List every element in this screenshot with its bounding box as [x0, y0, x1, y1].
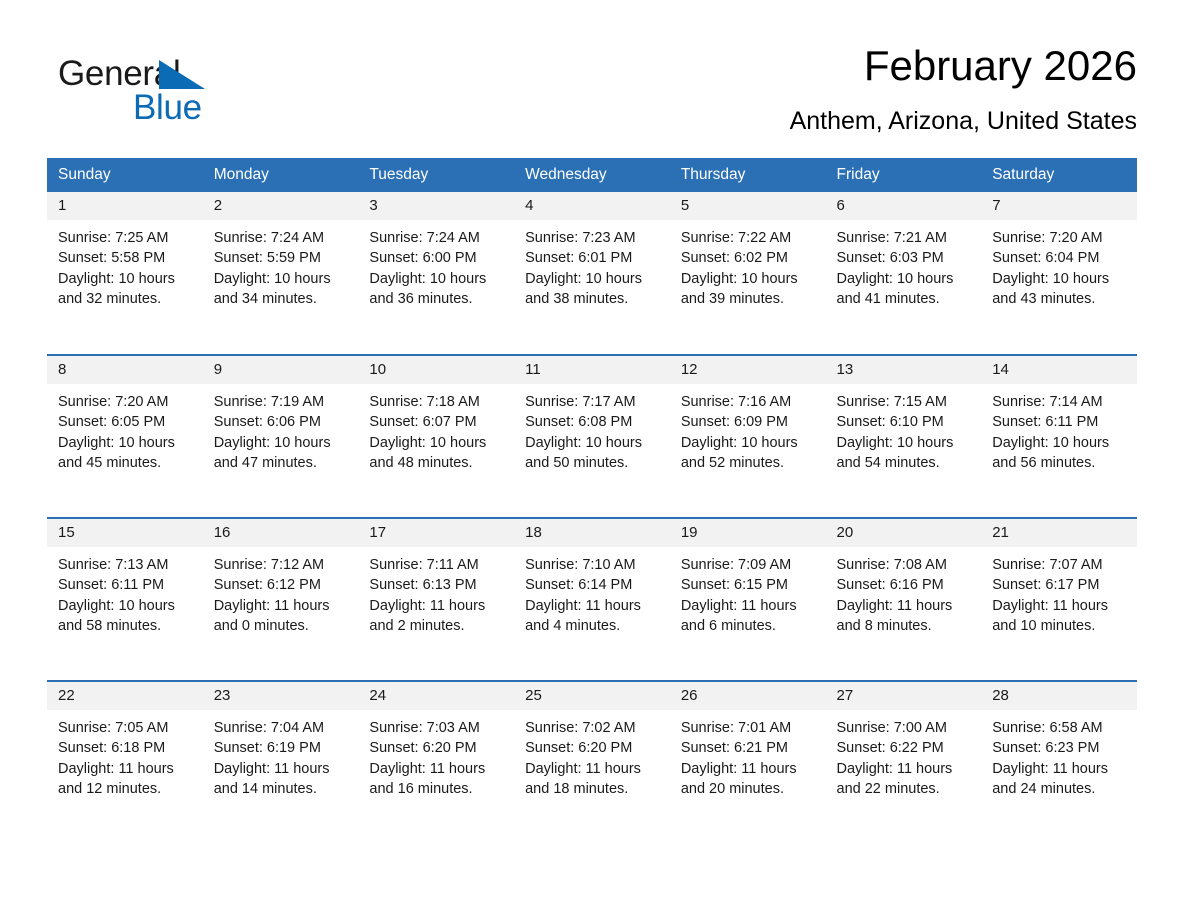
day-details: Sunrise: 7:00 AM Sunset: 6:22 PM Dayligh… [826, 710, 982, 799]
daylight-text-line2: and 16 minutes. [369, 779, 504, 799]
day-number: 2 [203, 192, 359, 220]
day-details: Sunrise: 7:13 AM Sunset: 6:11 PM Dayligh… [47, 547, 203, 636]
day-cell[interactable]: 9 Sunrise: 7:19 AM Sunset: 6:06 PM Dayli… [203, 355, 359, 518]
weekday-header-sunday: Sunday [47, 158, 203, 192]
daylight-text-line1: Daylight: 11 hours [369, 759, 504, 779]
weekday-header-saturday: Saturday [981, 158, 1137, 192]
daylight-text-line1: Daylight: 10 hours [369, 269, 504, 289]
sunrise-text: Sunrise: 7:20 AM [992, 228, 1127, 248]
day-cell[interactable]: 21 Sunrise: 7:07 AM Sunset: 6:17 PM Dayl… [981, 518, 1137, 681]
sunrise-text: Sunrise: 7:00 AM [837, 718, 972, 738]
day-number: 28 [981, 682, 1137, 710]
sunset-text: Sunset: 6:19 PM [214, 738, 349, 758]
day-cell[interactable]: 1 Sunrise: 7:25 AM Sunset: 5:58 PM Dayli… [47, 192, 203, 355]
sunset-text: Sunset: 6:03 PM [837, 248, 972, 268]
day-number: 11 [514, 356, 670, 384]
day-details: Sunrise: 7:11 AM Sunset: 6:13 PM Dayligh… [358, 547, 514, 636]
daylight-text-line1: Daylight: 10 hours [681, 269, 816, 289]
sunrise-text: Sunrise: 7:10 AM [525, 555, 660, 575]
daylight-text-line1: Daylight: 10 hours [525, 269, 660, 289]
day-number: 6 [826, 192, 982, 220]
day-number: 26 [670, 682, 826, 710]
day-number: 14 [981, 356, 1137, 384]
sunrise-text: Sunrise: 7:20 AM [58, 392, 193, 412]
sunset-text: Sunset: 6:13 PM [369, 575, 504, 595]
sunrise-text: Sunrise: 7:14 AM [992, 392, 1127, 412]
daylight-text-line1: Daylight: 10 hours [837, 433, 972, 453]
day-cell[interactable]: 4 Sunrise: 7:23 AM Sunset: 6:01 PM Dayli… [514, 192, 670, 355]
day-cell[interactable]: 2 Sunrise: 7:24 AM Sunset: 5:59 PM Dayli… [203, 192, 359, 355]
day-number: 18 [514, 519, 670, 547]
daylight-text-line2: and 18 minutes. [525, 779, 660, 799]
daylight-text-line1: Daylight: 10 hours [837, 269, 972, 289]
day-details: Sunrise: 7:18 AM Sunset: 6:07 PM Dayligh… [358, 384, 514, 473]
sunset-text: Sunset: 6:02 PM [681, 248, 816, 268]
day-cell[interactable]: 3 Sunrise: 7:24 AM Sunset: 6:00 PM Dayli… [358, 192, 514, 355]
daylight-text-line2: and 56 minutes. [992, 453, 1127, 473]
daylight-text-line1: Daylight: 10 hours [58, 269, 193, 289]
day-details: Sunrise: 7:05 AM Sunset: 6:18 PM Dayligh… [47, 710, 203, 799]
day-number: 9 [203, 356, 359, 384]
day-details: Sunrise: 7:02 AM Sunset: 6:20 PM Dayligh… [514, 710, 670, 799]
daylight-text-line2: and 47 minutes. [214, 453, 349, 473]
day-cell[interactable]: 16 Sunrise: 7:12 AM Sunset: 6:12 PM Dayl… [203, 518, 359, 681]
daylight-text-line2: and 14 minutes. [214, 779, 349, 799]
day-details: Sunrise: 7:09 AM Sunset: 6:15 PM Dayligh… [670, 547, 826, 636]
sunset-text: Sunset: 6:20 PM [369, 738, 504, 758]
day-cell[interactable]: 14 Sunrise: 7:14 AM Sunset: 6:11 PM Dayl… [981, 355, 1137, 518]
day-details: Sunrise: 7:19 AM Sunset: 6:06 PM Dayligh… [203, 384, 359, 473]
daylight-text-line1: Daylight: 11 hours [992, 596, 1127, 616]
day-cell[interactable]: 19 Sunrise: 7:09 AM Sunset: 6:15 PM Dayl… [670, 518, 826, 681]
day-cell[interactable]: 8 Sunrise: 7:20 AM Sunset: 6:05 PM Dayli… [47, 355, 203, 518]
day-cell[interactable]: 20 Sunrise: 7:08 AM Sunset: 6:16 PM Dayl… [826, 518, 982, 681]
daylight-text-line2: and 48 minutes. [369, 453, 504, 473]
day-cell[interactable]: 25 Sunrise: 7:02 AM Sunset: 6:20 PM Dayl… [514, 681, 670, 844]
sunset-text: Sunset: 6:04 PM [992, 248, 1127, 268]
daylight-text-line1: Daylight: 11 hours [837, 596, 972, 616]
day-details: Sunrise: 7:10 AM Sunset: 6:14 PM Dayligh… [514, 547, 670, 636]
day-number: 17 [358, 519, 514, 547]
day-number: 13 [826, 356, 982, 384]
day-number: 10 [358, 356, 514, 384]
daylight-text-line2: and 45 minutes. [58, 453, 193, 473]
page-header: General Blue February 2026 Anthem, Arizo… [47, 40, 1137, 148]
daylight-text-line2: and 2 minutes. [369, 616, 504, 636]
daylight-text-line2: and 38 minutes. [525, 289, 660, 309]
sunset-text: Sunset: 6:08 PM [525, 412, 660, 432]
daylight-text-line1: Daylight: 11 hours [681, 759, 816, 779]
day-number: 4 [514, 192, 670, 220]
day-details: Sunrise: 7:17 AM Sunset: 6:08 PM Dayligh… [514, 384, 670, 473]
daylight-text-line2: and 36 minutes. [369, 289, 504, 309]
sunrise-text: Sunrise: 7:22 AM [681, 228, 816, 248]
day-details: Sunrise: 7:25 AM Sunset: 5:58 PM Dayligh… [47, 220, 203, 309]
daylight-text-line1: Daylight: 10 hours [992, 269, 1127, 289]
daylight-text-line2: and 24 minutes. [992, 779, 1127, 799]
sunrise-text: Sunrise: 7:07 AM [992, 555, 1127, 575]
calendar-week-row: 8 Sunrise: 7:20 AM Sunset: 6:05 PM Dayli… [47, 355, 1137, 518]
day-cell[interactable]: 6 Sunrise: 7:21 AM Sunset: 6:03 PM Dayli… [826, 192, 982, 355]
daylight-text-line2: and 50 minutes. [525, 453, 660, 473]
daylight-text-line1: Daylight: 10 hours [214, 269, 349, 289]
sunset-text: Sunset: 6:11 PM [58, 575, 193, 595]
daylight-text-line1: Daylight: 11 hours [369, 596, 504, 616]
day-number: 5 [670, 192, 826, 220]
daylight-text-line2: and 0 minutes. [214, 616, 349, 636]
day-number: 19 [670, 519, 826, 547]
daylight-text-line2: and 41 minutes. [837, 289, 972, 309]
sunrise-text: Sunrise: 7:23 AM [525, 228, 660, 248]
sunset-text: Sunset: 6:14 PM [525, 575, 660, 595]
daylight-text-line2: and 54 minutes. [837, 453, 972, 473]
weekday-header-thursday: Thursday [670, 158, 826, 192]
daylight-text-line1: Daylight: 10 hours [369, 433, 504, 453]
day-cell[interactable]: 7 Sunrise: 7:20 AM Sunset: 6:04 PM Dayli… [981, 192, 1137, 355]
sunrise-text: Sunrise: 7:21 AM [837, 228, 972, 248]
day-number: 12 [670, 356, 826, 384]
day-number: 7 [981, 192, 1137, 220]
title-block: February 2026 Anthem, Arizona, United St… [790, 40, 1137, 138]
sunrise-text: Sunrise: 7:08 AM [837, 555, 972, 575]
sunrise-text: Sunrise: 7:05 AM [58, 718, 193, 738]
daylight-text-line1: Daylight: 10 hours [681, 433, 816, 453]
sunset-text: Sunset: 6:18 PM [58, 738, 193, 758]
sunset-text: Sunset: 6:15 PM [681, 575, 816, 595]
daylight-text-line2: and 22 minutes. [837, 779, 972, 799]
daylight-text-line1: Daylight: 11 hours [992, 759, 1127, 779]
sunrise-text: Sunrise: 7:13 AM [58, 555, 193, 575]
daylight-text-line1: Daylight: 10 hours [214, 433, 349, 453]
day-cell[interactable]: 5 Sunrise: 7:22 AM Sunset: 6:02 PM Dayli… [670, 192, 826, 355]
day-cell[interactable]: 10 Sunrise: 7:18 AM Sunset: 6:07 PM Dayl… [358, 355, 514, 518]
daylight-text-line1: Daylight: 11 hours [837, 759, 972, 779]
sunrise-sunset-calendar: Sunday Monday Tuesday Wednesday Thursday… [47, 158, 1137, 844]
day-details: Sunrise: 7:23 AM Sunset: 6:01 PM Dayligh… [514, 220, 670, 309]
daylight-text-line2: and 32 minutes. [58, 289, 193, 309]
daylight-text-line1: Daylight: 10 hours [58, 596, 193, 616]
daylight-text-line2: and 6 minutes. [681, 616, 816, 636]
day-number: 8 [47, 356, 203, 384]
sunrise-text: Sunrise: 7:24 AM [369, 228, 504, 248]
day-details: Sunrise: 7:04 AM Sunset: 6:19 PM Dayligh… [203, 710, 359, 799]
day-details: Sunrise: 7:14 AM Sunset: 6:11 PM Dayligh… [981, 384, 1137, 473]
day-details: Sunrise: 7:20 AM Sunset: 6:04 PM Dayligh… [981, 220, 1137, 309]
day-number: 25 [514, 682, 670, 710]
generalblue-logo[interactable]: General Blue [58, 54, 258, 130]
calendar-body: 1 Sunrise: 7:25 AM Sunset: 5:58 PM Dayli… [47, 192, 1137, 844]
day-cell[interactable]: 15 Sunrise: 7:13 AM Sunset: 6:11 PM Dayl… [47, 518, 203, 681]
daylight-text-line2: and 12 minutes. [58, 779, 193, 799]
day-details: Sunrise: 7:15 AM Sunset: 6:10 PM Dayligh… [826, 384, 982, 473]
calendar-page: General Blue February 2026 Anthem, Arizo… [0, 0, 1188, 918]
day-cell[interactable]: 12 Sunrise: 7:16 AM Sunset: 6:09 PM Dayl… [670, 355, 826, 518]
sunrise-text: Sunrise: 7:01 AM [681, 718, 816, 738]
sunset-text: Sunset: 6:21 PM [681, 738, 816, 758]
day-cell[interactable]: 26 Sunrise: 7:01 AM Sunset: 6:21 PM Dayl… [670, 681, 826, 844]
day-cell[interactable]: 22 Sunrise: 7:05 AM Sunset: 6:18 PM Dayl… [47, 681, 203, 844]
sunrise-text: Sunrise: 7:19 AM [214, 392, 349, 412]
sunset-text: Sunset: 6:11 PM [992, 412, 1127, 432]
day-cell[interactable]: 24 Sunrise: 7:03 AM Sunset: 6:20 PM Dayl… [358, 681, 514, 844]
sunset-text: Sunset: 6:07 PM [369, 412, 504, 432]
sunset-text: Sunset: 6:09 PM [681, 412, 816, 432]
day-details: Sunrise: 7:07 AM Sunset: 6:17 PM Dayligh… [981, 547, 1137, 636]
sunset-text: Sunset: 6:00 PM [369, 248, 504, 268]
sunrise-text: Sunrise: 7:15 AM [837, 392, 972, 412]
sunset-text: Sunset: 6:22 PM [837, 738, 972, 758]
sunset-text: Sunset: 6:12 PM [214, 575, 349, 595]
sunset-text: Sunset: 6:23 PM [992, 738, 1127, 758]
day-number: 27 [826, 682, 982, 710]
sunrise-text: Sunrise: 7:17 AM [525, 392, 660, 412]
daylight-text-line2: and 20 minutes. [681, 779, 816, 799]
sunset-text: Sunset: 6:01 PM [525, 248, 660, 268]
sunrise-text: Sunrise: 7:25 AM [58, 228, 193, 248]
sunset-text: Sunset: 6:17 PM [992, 575, 1127, 595]
day-details: Sunrise: 7:21 AM Sunset: 6:03 PM Dayligh… [826, 220, 982, 309]
day-details: Sunrise: 6:58 AM Sunset: 6:23 PM Dayligh… [981, 710, 1137, 799]
calendar-week-row: 15 Sunrise: 7:13 AM Sunset: 6:11 PM Dayl… [47, 518, 1137, 681]
daylight-text-line1: Daylight: 11 hours [525, 759, 660, 779]
daylight-text-line1: Daylight: 11 hours [58, 759, 193, 779]
daylight-text-line1: Daylight: 11 hours [525, 596, 660, 616]
daylight-text-line1: Daylight: 10 hours [525, 433, 660, 453]
day-number: 24 [358, 682, 514, 710]
sunrise-text: Sunrise: 7:03 AM [369, 718, 504, 738]
day-details: Sunrise: 7:12 AM Sunset: 6:12 PM Dayligh… [203, 547, 359, 636]
weekday-header-friday: Friday [826, 158, 982, 192]
day-details: Sunrise: 7:16 AM Sunset: 6:09 PM Dayligh… [670, 384, 826, 473]
sunrise-text: Sunrise: 6:58 AM [992, 718, 1127, 738]
daylight-text-line1: Daylight: 11 hours [681, 596, 816, 616]
day-cell[interactable]: 28 Sunrise: 6:58 AM Sunset: 6:23 PM Dayl… [981, 681, 1137, 844]
location-subtitle: Anthem, Arizona, United States [790, 104, 1137, 138]
daylight-text-line1: Daylight: 10 hours [992, 433, 1127, 453]
daylight-text-line2: and 8 minutes. [837, 616, 972, 636]
day-number: 21 [981, 519, 1137, 547]
sunrise-text: Sunrise: 7:18 AM [369, 392, 504, 412]
daylight-text-line2: and 58 minutes. [58, 616, 193, 636]
daylight-text-line1: Daylight: 10 hours [58, 433, 193, 453]
day-cell[interactable]: 13 Sunrise: 7:15 AM Sunset: 6:10 PM Dayl… [826, 355, 982, 518]
sunrise-text: Sunrise: 7:02 AM [525, 718, 660, 738]
day-cell[interactable]: 23 Sunrise: 7:04 AM Sunset: 6:19 PM Dayl… [203, 681, 359, 844]
daylight-text-line2: and 39 minutes. [681, 289, 816, 309]
day-details: Sunrise: 7:08 AM Sunset: 6:16 PM Dayligh… [826, 547, 982, 636]
day-number: 23 [203, 682, 359, 710]
sunrise-text: Sunrise: 7:24 AM [214, 228, 349, 248]
daylight-text-line2: and 52 minutes. [681, 453, 816, 473]
sunset-text: Sunset: 6:05 PM [58, 412, 193, 432]
sunrise-text: Sunrise: 7:11 AM [369, 555, 504, 575]
day-number: 20 [826, 519, 982, 547]
day-cell[interactable]: 18 Sunrise: 7:10 AM Sunset: 6:14 PM Dayl… [514, 518, 670, 681]
day-cell[interactable]: 27 Sunrise: 7:00 AM Sunset: 6:22 PM Dayl… [826, 681, 982, 844]
sunset-text: Sunset: 6:16 PM [837, 575, 972, 595]
sunset-text: Sunset: 6:20 PM [525, 738, 660, 758]
day-details: Sunrise: 7:24 AM Sunset: 6:00 PM Dayligh… [358, 220, 514, 309]
day-cell[interactable]: 17 Sunrise: 7:11 AM Sunset: 6:13 PM Dayl… [358, 518, 514, 681]
calendar-week-row: 22 Sunrise: 7:05 AM Sunset: 6:18 PM Dayl… [47, 681, 1137, 844]
blue-triangle-icon [159, 60, 205, 89]
sunrise-text: Sunrise: 7:16 AM [681, 392, 816, 412]
daylight-text-line2: and 34 minutes. [214, 289, 349, 309]
sunset-text: Sunset: 6:06 PM [214, 412, 349, 432]
sunset-text: Sunset: 5:59 PM [214, 248, 349, 268]
day-number: 3 [358, 192, 514, 220]
page-title: February 2026 [790, 40, 1137, 92]
sunrise-text: Sunrise: 7:09 AM [681, 555, 816, 575]
day-details: Sunrise: 7:22 AM Sunset: 6:02 PM Dayligh… [670, 220, 826, 309]
day-details: Sunrise: 7:01 AM Sunset: 6:21 PM Dayligh… [670, 710, 826, 799]
sunrise-text: Sunrise: 7:04 AM [214, 718, 349, 738]
logo-text-blue: Blue [133, 88, 202, 128]
day-cell[interactable]: 11 Sunrise: 7:17 AM Sunset: 6:08 PM Dayl… [514, 355, 670, 518]
daylight-text-line2: and 43 minutes. [992, 289, 1127, 309]
day-details: Sunrise: 7:24 AM Sunset: 5:59 PM Dayligh… [203, 220, 359, 309]
day-details: Sunrise: 7:03 AM Sunset: 6:20 PM Dayligh… [358, 710, 514, 799]
daylight-text-line2: and 4 minutes. [525, 616, 660, 636]
daylight-text-line1: Daylight: 11 hours [214, 596, 349, 616]
day-number: 22 [47, 682, 203, 710]
day-number: 16 [203, 519, 359, 547]
day-details: Sunrise: 7:20 AM Sunset: 6:05 PM Dayligh… [47, 384, 203, 473]
weekday-header-tuesday: Tuesday [358, 158, 514, 192]
sunset-text: Sunset: 5:58 PM [58, 248, 193, 268]
weekday-header-wednesday: Wednesday [514, 158, 670, 192]
calendar-week-row: 1 Sunrise: 7:25 AM Sunset: 5:58 PM Dayli… [47, 192, 1137, 355]
sunset-text: Sunset: 6:10 PM [837, 412, 972, 432]
daylight-text-line2: and 10 minutes. [992, 616, 1127, 636]
day-number: 15 [47, 519, 203, 547]
sunrise-text: Sunrise: 7:12 AM [214, 555, 349, 575]
day-number: 1 [47, 192, 203, 220]
calendar-header-row: Sunday Monday Tuesday Wednesday Thursday… [47, 158, 1137, 192]
daylight-text-line1: Daylight: 11 hours [214, 759, 349, 779]
weekday-header-monday: Monday [203, 158, 359, 192]
